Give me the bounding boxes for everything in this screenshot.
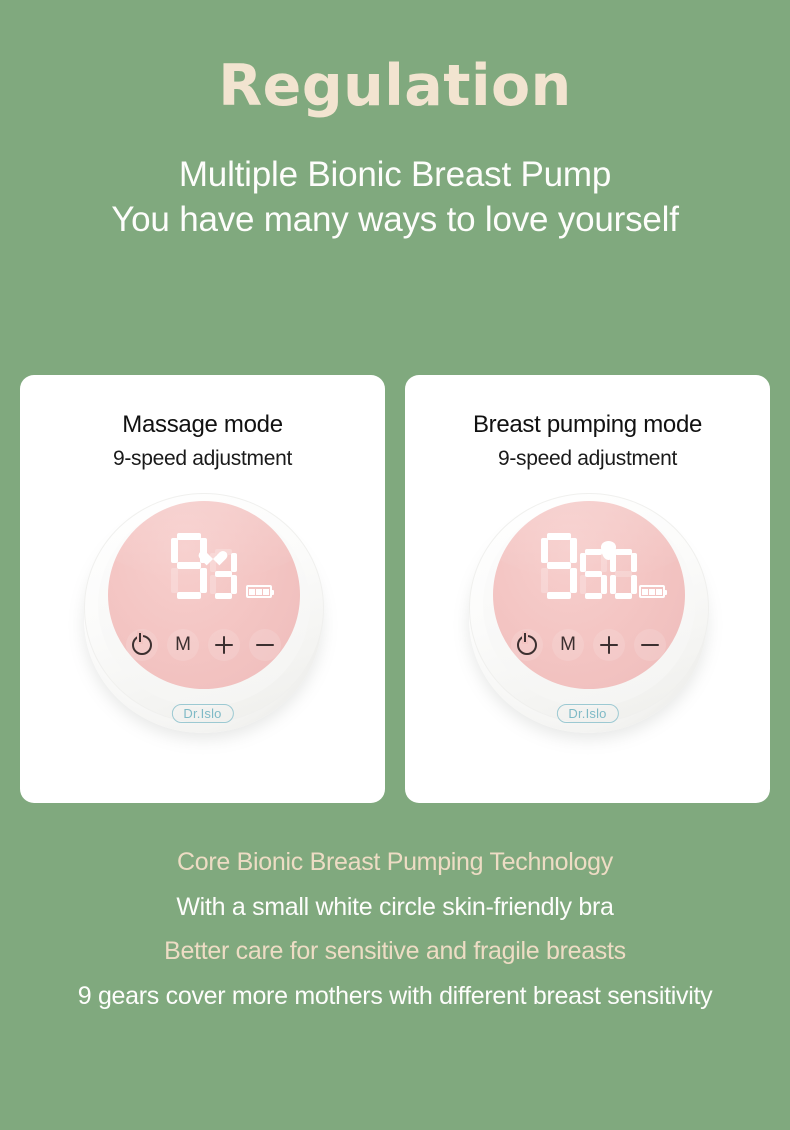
segment-a [547,533,571,540]
breast-pump-device[interactable]: M Dr.Islo [463,487,713,737]
segment-a [585,549,602,555]
breast-pump-device[interactable]: M Dr.Islo [78,487,328,737]
card-title: Massage mode [20,375,385,439]
minus-icon [256,636,274,654]
hero-subtitle-line-2: You have many ways to love yourself [0,198,790,243]
segment-g [547,562,571,569]
segment-f [171,538,178,563]
segment-c [601,575,607,594]
brand-logo: Dr.Islo [171,704,233,723]
segment-e [610,575,616,594]
water-drop-icon [601,541,621,561]
segment-d [585,593,602,599]
power-icon [132,635,152,655]
page-title: Regulation [0,58,790,115]
led-digits [541,533,637,599]
card-breast-pumping-mode[interactable]: Breast pumping mode 9-speed adjustment [405,375,770,803]
power-button[interactable] [511,629,543,661]
device-button-row: M [108,629,300,661]
minus-icon [641,636,659,654]
segment-e [171,568,178,593]
battery-icon [639,585,665,598]
heart-icon [204,545,224,565]
segment-e [580,575,586,594]
segment-d [615,593,632,599]
battery-icon [246,585,272,598]
card-title: Breast pumping mode [405,375,770,439]
segment-e [210,575,216,594]
footer-line: With a small white circle skin-friendly … [0,885,790,930]
segment-g [615,571,632,577]
footer-text-block: Core Bionic Breast Pumping Technology Wi… [0,840,790,1018]
hero-subtitle-line-1: Multiple Bionic Breast Pump [0,153,790,198]
increase-button[interactable] [208,629,240,661]
card-subtitle: 9-speed adjustment [20,439,385,471]
segment-c [631,575,637,594]
segment-f [580,553,586,572]
segment-g [585,571,602,577]
hero-section: Regulation [0,0,790,115]
card-massage-mode[interactable]: Massage mode 9-speed adjustment [20,375,385,803]
segment-e [541,568,548,593]
segment-b [570,538,577,563]
led-digit [171,533,207,599]
decrease-button[interactable] [634,629,666,661]
segment-c [200,568,207,593]
segment-b [231,553,237,572]
segment-d [547,592,571,599]
hero-subtitle-block: Multiple Bionic Breast Pump You have man… [0,153,790,243]
mode-button[interactable]: M [167,629,199,661]
device-control-panel[interactable]: M [108,501,300,689]
plus-icon [215,636,233,654]
increase-button[interactable] [593,629,625,661]
segment-g [177,562,201,569]
footer-line: Core Bionic Breast Pumping Technology [0,840,790,885]
led-digit [541,533,577,599]
decrease-button[interactable] [249,629,281,661]
segment-d [215,593,232,599]
led-display [108,533,300,609]
power-icon [517,635,537,655]
segment-c [570,568,577,593]
card-subtitle: 9-speed adjustment [405,439,770,471]
footer-line: Better care for sensitive and fragile br… [0,929,790,974]
product-cards: Massage mode 9-speed adjustment [20,375,770,803]
led-digits [171,533,237,599]
segment-g [215,571,232,577]
led-display [493,533,685,609]
power-button[interactable] [126,629,158,661]
segment-f [541,538,548,563]
plus-icon [600,636,618,654]
segment-d [177,592,201,599]
brand-logo: Dr.Islo [556,704,618,723]
device-button-row: M [493,629,685,661]
segment-c [231,575,237,594]
segment-a [177,533,201,540]
segment-b [631,553,637,572]
mode-button[interactable]: M [552,629,584,661]
device-control-panel[interactable]: M [493,501,685,689]
footer-line: 9 gears cover more mothers with differen… [0,974,790,1019]
